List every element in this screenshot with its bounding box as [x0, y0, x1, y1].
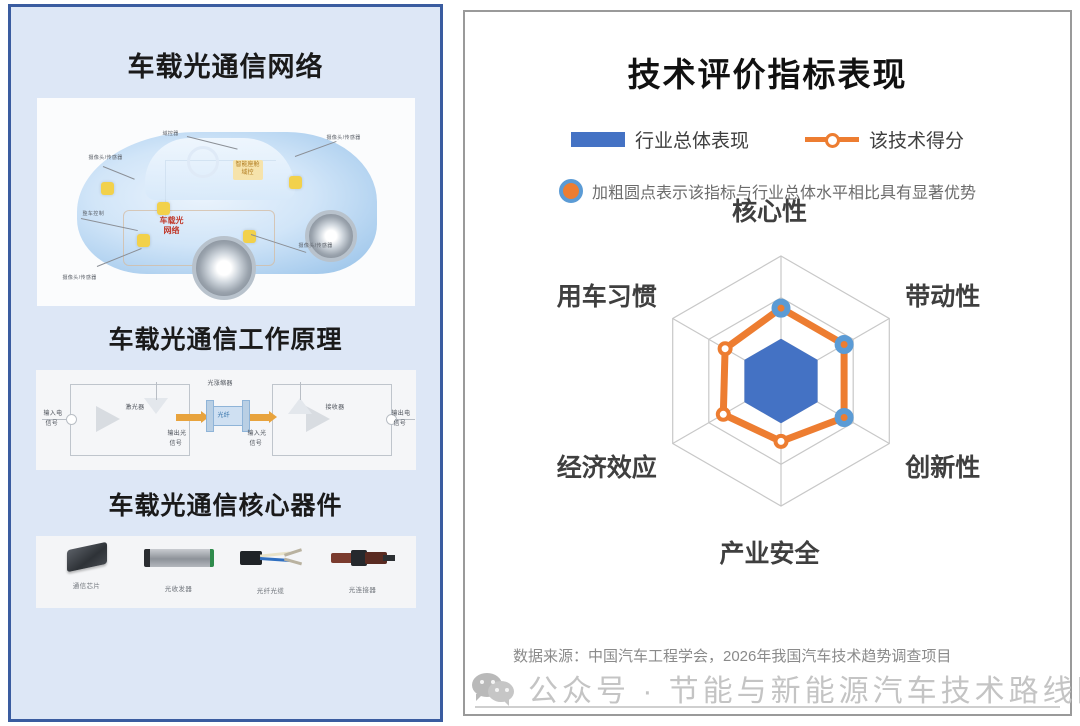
chart-legend: 行业总体表现 该技术得分 [465, 126, 1070, 153]
diagram-label: 接收器 [326, 402, 345, 411]
diagram-label: 信号 [46, 418, 59, 427]
legend-item-technology: 该技术得分 [805, 126, 964, 153]
fiber-coupler [206, 400, 214, 432]
radar-marker [718, 409, 729, 420]
front-wheel-shape [192, 236, 256, 300]
figure-label: 整车控制 [83, 210, 105, 217]
wire [156, 382, 157, 400]
figure-label: 摄像头/传感器 [89, 154, 123, 161]
radar-marker-highlighted [775, 302, 788, 315]
diagram-label: 输入电 [44, 408, 63, 417]
diagram-label: 输入光 [248, 428, 267, 437]
diagram-label: 输出光 [168, 428, 187, 437]
figure-label: 摄像头/传感器 [63, 274, 97, 281]
wire [300, 382, 301, 400]
radar-marker-highlighted [838, 411, 851, 424]
diagram-label: 输出电 [392, 408, 411, 417]
radar-marker [720, 343, 731, 354]
legend-bar-swatch [571, 132, 625, 147]
diagram-label: 激光器 [126, 402, 145, 411]
axis-label-core: 核心性 [465, 192, 1074, 228]
chart-title: 技术评价指标表现 [465, 48, 1070, 96]
legend-label: 该技术得分 [869, 126, 964, 153]
diagram-label: 光涨缩器 [208, 378, 233, 387]
figure-label: 域控器 [163, 130, 179, 137]
chip-icon [44, 546, 130, 576]
sensor-node-marker [101, 182, 114, 195]
radar-svg [465, 209, 1074, 539]
in-vehicle-optical-network-illustration: 摄像头/传感器 整车控制 摄像头/传感器 摄像头/传感器 摄像头/传感器 域控器… [37, 98, 415, 306]
sensor-node-marker [243, 230, 256, 243]
left-infographic-panel: 车载光通信网络 摄像头/传感器 整车控制 摄像头/传感器 摄像头/传感器 摄像头… [8, 4, 443, 722]
optical-connector-icon [320, 550, 406, 580]
sensor-node-marker [157, 202, 170, 215]
sensor-node-marker [289, 176, 302, 189]
figure-label-center: 车载光网络 [149, 216, 195, 236]
axis-label-driving: 带动性 [905, 277, 980, 313]
diagram-label: 信号 [250, 438, 263, 447]
amplifier-triangle [96, 406, 120, 432]
legend-item-industry: 行业总体表现 [571, 126, 749, 153]
rear-wheel-shape [305, 210, 357, 262]
transceiver-icon [136, 549, 222, 579]
laser-diode-shape [144, 398, 168, 414]
diagram-label: 信号 [170, 438, 183, 447]
diagram-label: 信号 [394, 418, 407, 427]
chart-source: 数据来源：中国汽车工程学会，2026年我国汽车技术趋势调查项目 [513, 646, 1053, 669]
optical-flow-arrow [176, 414, 202, 421]
axis-label-usage-habit: 用车习惯 [465, 277, 657, 313]
fiber-cable-icon [228, 551, 314, 581]
photo-diode-shape [288, 398, 312, 414]
diagram-label: 光纤 [218, 410, 231, 419]
steering-wheel-icon [187, 146, 219, 178]
axis-label-innovation: 创新性 [905, 448, 980, 484]
input-terminal [66, 414, 77, 425]
section-title-principle: 车载光通信工作原理 [11, 320, 440, 356]
axis-label-economic: 经济效应 [465, 448, 657, 484]
radar-marker [776, 436, 787, 447]
core-components-strip: 通信芯片 光收发器 光纤光缆 光连接器 [36, 536, 416, 608]
radar-chart: 核心性 带动性 创新性 产业安全 经济效应 用车习惯 [465, 209, 1074, 539]
radar-marker-highlighted [838, 338, 851, 351]
figure-label-cabin: 智能座舱域控 [233, 160, 263, 180]
optical-communication-principle-diagram: 输入电 信号 激光器 输出光 信号 光涨缩器 光纤 输入光 信号 接收器 输出电… [36, 370, 416, 470]
figure-label: 摄像头/传感器 [299, 242, 333, 249]
legend-label: 行业总体表现 [635, 126, 749, 153]
section-title-components: 车载光通信核心器件 [11, 486, 440, 522]
axis-label-industry-safety: 产业安全 [465, 534, 1074, 570]
component-item: 光连接器 [320, 542, 406, 594]
receiver-block [272, 384, 392, 456]
figure-label: 摄像头/传感器 [327, 134, 361, 141]
legend-line-swatch [805, 132, 859, 147]
component-item: 通信芯片 [44, 542, 130, 590]
component-item: 光纤光缆 [228, 542, 314, 595]
component-item: 光收发器 [136, 542, 222, 593]
panel-divider [475, 706, 1060, 708]
section-title-network: 车载光通信网络 [11, 45, 440, 84]
radar-area-industry [745, 339, 817, 422]
radar-chart-panel: 技术评价指标表现 行业总体表现 该技术得分 加粗圆点表示该指标与行业总体水平相比… [463, 10, 1072, 716]
